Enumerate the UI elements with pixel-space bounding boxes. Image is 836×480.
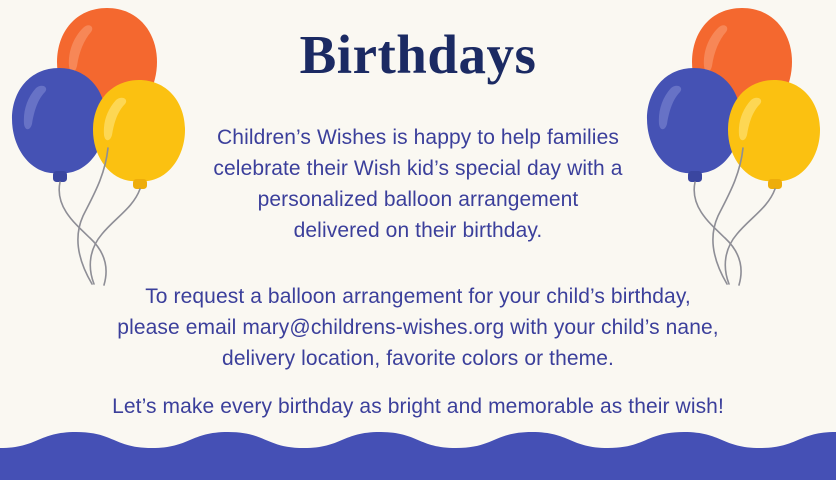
intro-line: Children’s Wishes is happy to help famil… bbox=[0, 122, 836, 153]
request-line: To request a balloon arrangement for you… bbox=[0, 281, 836, 312]
request-paragraph: To request a balloon arrangement for you… bbox=[0, 281, 836, 374]
request-line: delivery location, favorite colors or th… bbox=[0, 343, 836, 374]
wave-decoration bbox=[0, 420, 836, 480]
request-line-email: please email mary@childrens-wishes.org w… bbox=[0, 312, 836, 343]
intro-line: personalized balloon arrangement bbox=[0, 184, 836, 215]
closing-paragraph: Let’s make every birthday as bright and … bbox=[0, 391, 836, 422]
page-title: Birthdays bbox=[0, 26, 836, 84]
intro-paragraph: Children’s Wishes is happy to help famil… bbox=[0, 122, 836, 246]
closing-line: Let’s make every birthday as bright and … bbox=[0, 391, 836, 422]
intro-line: delivered on their birthday. bbox=[0, 215, 836, 246]
birthdays-flyer: Birthdays Children’s Wishes is happy to … bbox=[0, 0, 836, 480]
intro-line: celebrate their Wish kid’s special day w… bbox=[0, 153, 836, 184]
